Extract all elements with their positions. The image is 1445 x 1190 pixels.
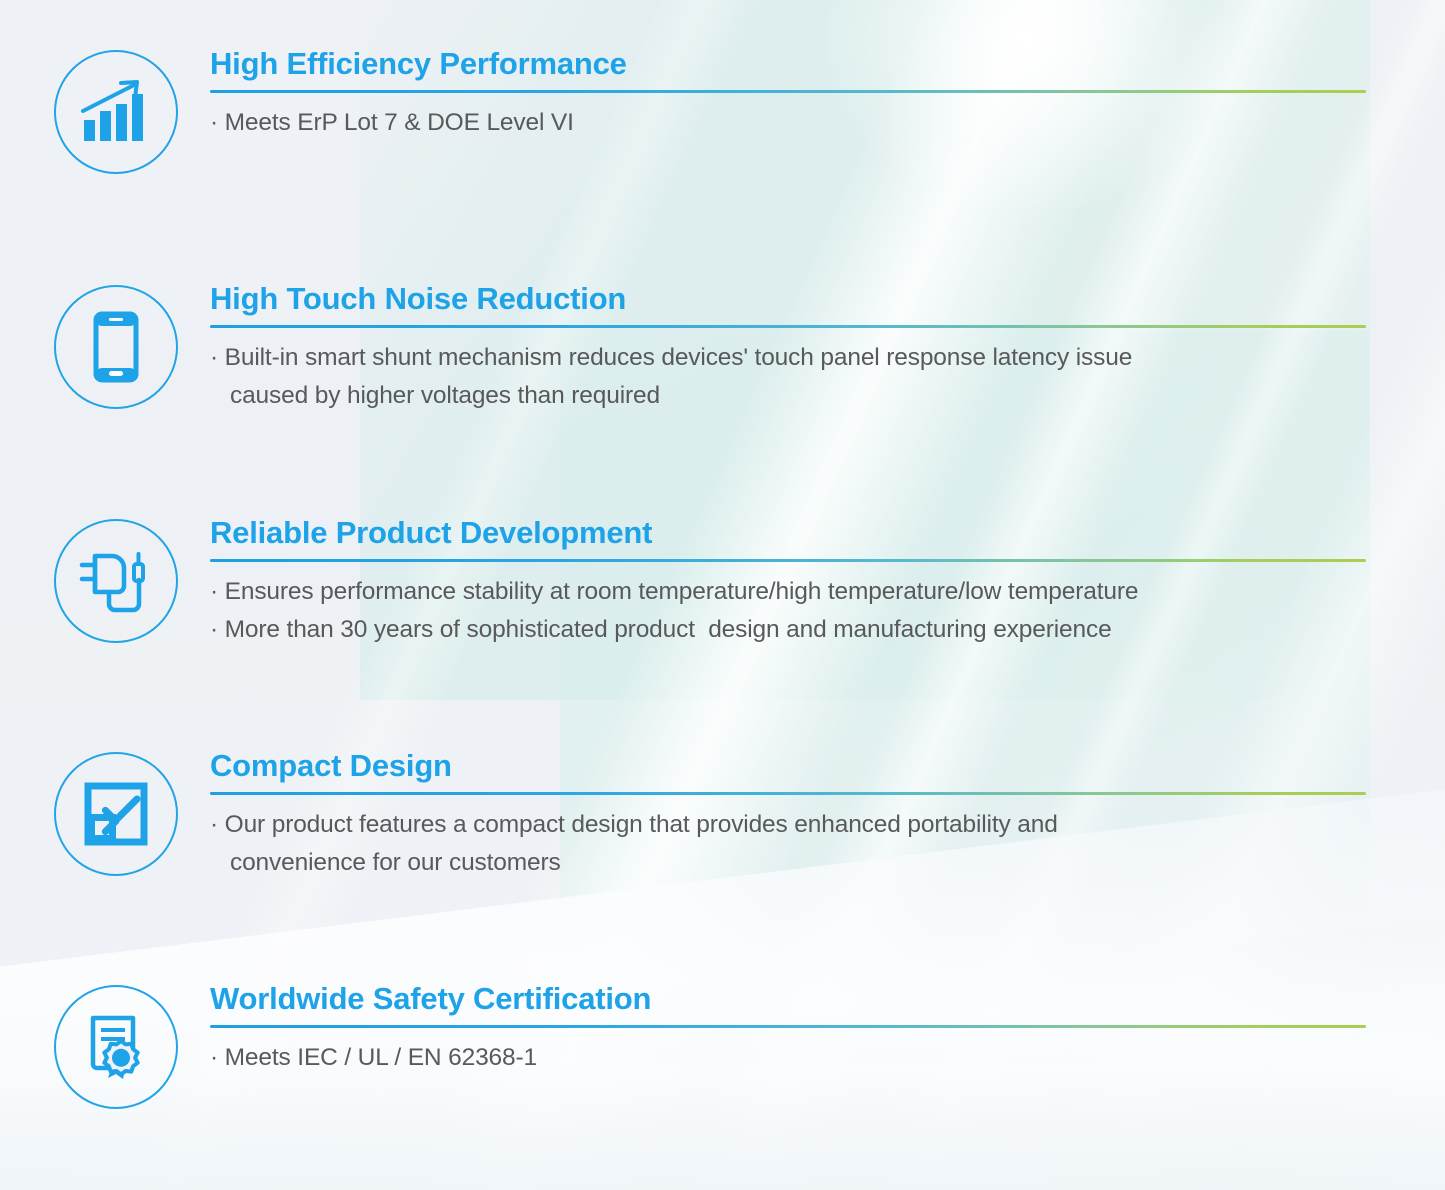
icon-circle	[54, 985, 178, 1109]
feature-divider	[210, 90, 1366, 93]
feature-text-column: Worldwide Safety Certification · Meets I…	[210, 983, 1370, 1077]
feature-bullet: · Our product features a compact design …	[210, 806, 1370, 845]
icon-circle	[54, 285, 178, 409]
feature-icon-wrap	[54, 519, 178, 643]
feature-body: · Meets IEC / UL / EN 62368-1	[210, 1039, 1370, 1078]
power-adapter-icon	[78, 548, 154, 614]
feature-text-column: Reliable Product Development · Ensures p…	[210, 517, 1370, 650]
feature-list-page: High Efficiency Performance · Meets ErP …	[0, 0, 1445, 1190]
feature-title: High Touch Noise Reduction	[210, 283, 1370, 316]
feature-bullet: · Meets ErP Lot 7 & DOE Level VI	[210, 104, 1370, 143]
feature-body: · Meets ErP Lot 7 & DOE Level VI	[210, 104, 1370, 143]
feature-title: Compact Design	[210, 750, 1370, 783]
feature-bullet: convenience for our customers	[210, 844, 1370, 883]
feature-title: Reliable Product Development	[210, 517, 1370, 550]
feature-bullet: · Built-in smart shunt mechanism reduces…	[210, 339, 1370, 378]
feature-divider	[210, 325, 1366, 328]
feature-body: · Our product features a compact design …	[210, 806, 1370, 883]
feature-bullet: · More than 30 years of sophisticated pr…	[210, 611, 1370, 650]
feature-text-column: Compact Design · Our product features a …	[210, 750, 1370, 883]
feature-bullet: · Meets IEC / UL / EN 62368-1	[210, 1039, 1370, 1078]
icon-circle	[54, 50, 178, 174]
feature-divider	[210, 792, 1366, 795]
icon-circle	[54, 519, 178, 643]
smartphone-icon	[93, 311, 139, 383]
feature-title: Worldwide Safety Certification	[210, 983, 1370, 1016]
feature-text-column: High Efficiency Performance · Meets ErP …	[210, 48, 1370, 142]
feature-bullet: · Ensures performance stability at room …	[210, 573, 1370, 612]
feature-icon-wrap	[54, 985, 178, 1109]
feature-icon-wrap	[54, 752, 178, 876]
feature-body: · Built-in smart shunt mechanism reduces…	[210, 339, 1370, 416]
feature-body: · Ensures performance stability at room …	[210, 573, 1370, 650]
compact-resize-icon	[82, 780, 150, 848]
feature-bullet: caused by higher voltages than required	[210, 377, 1370, 416]
feature-text-column: High Touch Noise Reduction · Built-in sm…	[210, 283, 1370, 416]
feature-title: High Efficiency Performance	[210, 48, 1370, 81]
feature-divider	[210, 1025, 1366, 1028]
feature-divider	[210, 559, 1366, 562]
icon-circle	[54, 752, 178, 876]
feature-icon-wrap	[54, 50, 178, 174]
certificate-seal-icon	[81, 1012, 151, 1082]
feature-icon-wrap	[54, 285, 178, 409]
bar-chart-growth-icon	[80, 80, 152, 144]
